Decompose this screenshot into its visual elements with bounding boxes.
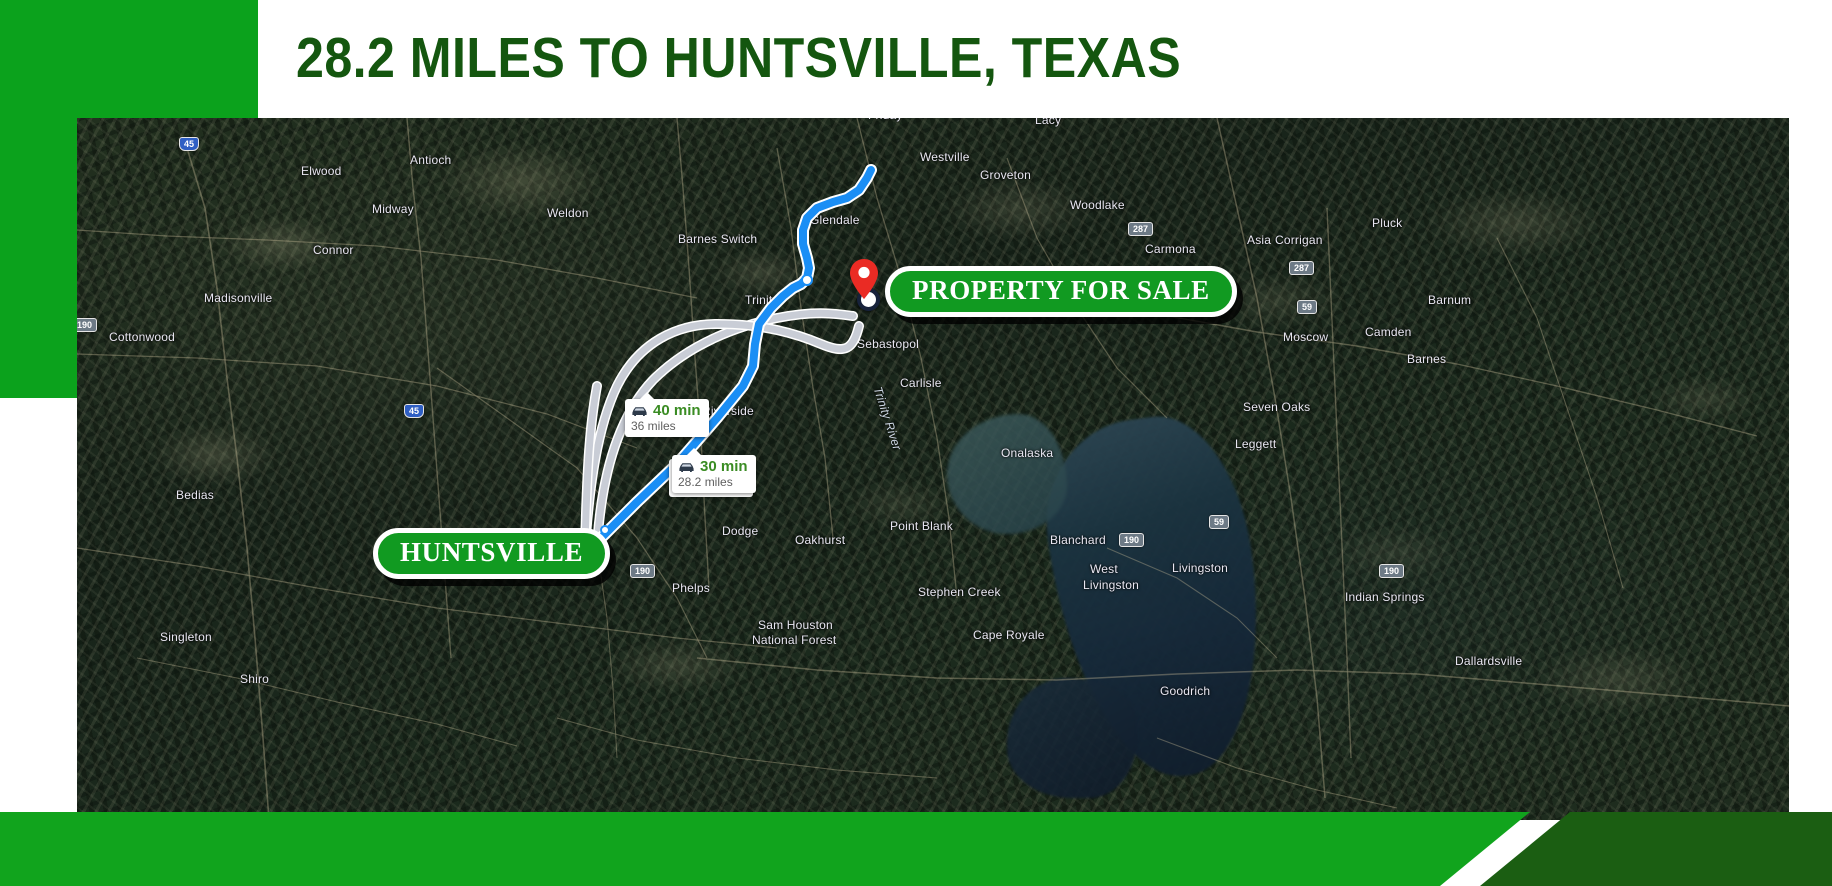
route-callout-30min[interactable]: 30 min 28.2 miles bbox=[672, 455, 756, 493]
route-waypoint bbox=[802, 275, 812, 285]
route-layer[interactable] bbox=[77, 118, 1789, 820]
callout-tail bbox=[639, 392, 655, 400]
callout-time: 40 min bbox=[653, 403, 701, 419]
callout-distance: 28.2 miles bbox=[678, 475, 733, 489]
car-icon bbox=[631, 405, 648, 417]
route-waypoint bbox=[601, 526, 609, 534]
footer-accent-bar-dark bbox=[1480, 812, 1832, 886]
callout-time: 30 min bbox=[700, 459, 748, 475]
callout-tail bbox=[686, 448, 702, 456]
route-callout-40min[interactable]: 40 min 36 miles bbox=[625, 399, 709, 437]
car-icon bbox=[678, 461, 695, 473]
footer-accent-bar bbox=[0, 812, 1530, 886]
map-canvas[interactable]: FridayLacyWestvilleGrovetonAntiochElwood… bbox=[77, 118, 1789, 820]
property-for-sale-badge[interactable]: PROPERTY FOR SALE bbox=[885, 266, 1237, 317]
huntsville-badge[interactable]: HUNTSVILLE bbox=[373, 528, 610, 579]
property-map-pin[interactable] bbox=[849, 258, 879, 300]
page-title: 28.2 MILES TO HUNTSVILLE, TEXAS bbox=[296, 22, 1264, 94]
callout-distance: 36 miles bbox=[631, 419, 676, 433]
